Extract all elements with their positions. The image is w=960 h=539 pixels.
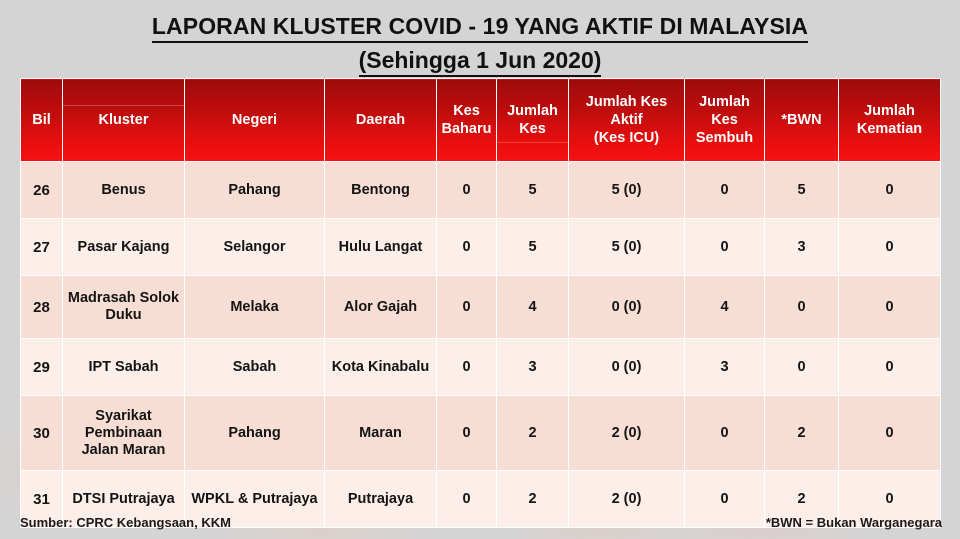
table-row: 29 IPT Sabah Sabah Kota Kinabalu 0 3 0 (… <box>21 339 941 396</box>
cell-bil: 27 <box>21 219 63 276</box>
col-header-kematian-line1: Jumlah <box>839 102 940 120</box>
cell-bil: 26 <box>21 162 63 219</box>
col-header-bil: Bil <box>21 79 63 162</box>
col-header-bil-label: Bil <box>21 111 62 129</box>
cell-kes-sembuh: 0 <box>685 162 765 219</box>
col-header-kes-sembuh-line3: Sembuh <box>685 129 764 147</box>
cell-kematian: 0 <box>839 219 941 276</box>
cell-bwn: 2 <box>765 396 839 471</box>
cell-jumlah-kes: 2 <box>497 396 569 471</box>
cell-kes-sembuh: 0 <box>685 219 765 276</box>
cell-kes-baharu: 0 <box>437 396 497 471</box>
cell-kes-sembuh: 0 <box>685 471 765 528</box>
title-line-1: LAPORAN KLUSTER COVID - 19 YANG AKTIF DI… <box>152 12 808 43</box>
cell-jumlah-kes: 5 <box>497 162 569 219</box>
cell-negeri: Pahang <box>185 162 325 219</box>
col-header-jumlah-kes-line2: Kes <box>497 120 568 138</box>
cell-kluster: IPT Sabah <box>63 339 185 396</box>
col-header-daerah-label: Daerah <box>325 111 436 129</box>
table-header: Bil Kluster Negeri Daerah Kes Baharu <box>21 79 941 162</box>
col-header-kes-baharu: Kes Baharu <box>437 79 497 162</box>
cell-jumlah-kes: 5 <box>497 219 569 276</box>
col-header-kes-aktif-line2: Aktif <box>569 111 684 129</box>
cell-kes-aktif: 0 (0) <box>569 276 685 339</box>
col-header-bwn: *BWN <box>765 79 839 162</box>
cell-kes-baharu: 0 <box>437 276 497 339</box>
cell-kluster: Madrasah Solok Duku <box>63 276 185 339</box>
col-header-kes-sembuh: Jumlah Kes Sembuh <box>685 79 765 162</box>
cell-kes-baharu: 0 <box>437 471 497 528</box>
table-header-row: Bil Kluster Negeri Daerah Kes Baharu <box>21 79 941 162</box>
cell-daerah: Bentong <box>325 162 437 219</box>
col-header-negeri: Negeri <box>185 79 325 162</box>
cell-bil: 29 <box>21 339 63 396</box>
table-row: 28 Madrasah Solok Duku Melaka Alor Gajah… <box>21 276 941 339</box>
footer-legend: *BWN = Bukan Warganegara <box>766 515 942 530</box>
cluster-table: Bil Kluster Negeri Daerah Kes Baharu <box>20 78 941 528</box>
cell-negeri: Pahang <box>185 396 325 471</box>
cell-daerah: Putrajaya <box>325 471 437 528</box>
col-header-bwn-label: *BWN <box>765 111 838 129</box>
cell-jumlah-kes: 2 <box>497 471 569 528</box>
cell-kematian: 0 <box>839 162 941 219</box>
cell-daerah: Alor Gajah <box>325 276 437 339</box>
col-header-kematian-line2: Kematian <box>839 120 940 138</box>
cell-kes-aktif: 2 (0) <box>569 471 685 528</box>
cell-kluster: Syarikat Pembinaan Jalan Maran <box>63 396 185 471</box>
slide-canvas: LAPORAN KLUSTER COVID - 19 YANG AKTIF DI… <box>0 0 960 539</box>
cluster-table-wrapper: Bil Kluster Negeri Daerah Kes Baharu <box>20 78 940 528</box>
col-header-kluster: Kluster <box>63 79 185 162</box>
cell-bil: 30 <box>21 396 63 471</box>
cell-kes-baharu: 0 <box>437 162 497 219</box>
col-header-jumlah-kes-line1: Jumlah <box>497 102 568 120</box>
cell-kes-aktif: 2 (0) <box>569 396 685 471</box>
cell-daerah: Kota Kinabalu <box>325 339 437 396</box>
cell-negeri: Selangor <box>185 219 325 276</box>
cell-daerah: Hulu Langat <box>325 219 437 276</box>
cell-kes-sembuh: 0 <box>685 396 765 471</box>
col-header-kes-aktif: Jumlah Kes Aktif (Kes ICU) <box>569 79 685 162</box>
cell-kes-sembuh: 4 <box>685 276 765 339</box>
cell-kes-baharu: 0 <box>437 219 497 276</box>
col-header-kematian: Jumlah Kematian <box>839 79 941 162</box>
title-line-2: (Sehingga 1 Jun 2020) <box>359 46 602 77</box>
col-header-kluster-label: Kluster <box>63 111 184 129</box>
cell-kes-aktif: 5 (0) <box>569 162 685 219</box>
col-header-kes-baharu-line1: Kes <box>437 102 496 120</box>
cell-kluster: Benus <box>63 162 185 219</box>
col-header-kes-baharu-line2: Baharu <box>437 120 496 138</box>
cell-bwn: 5 <box>765 162 839 219</box>
cell-bwn: 0 <box>765 339 839 396</box>
col-header-kes-aktif-line1: Jumlah Kes <box>569 93 684 111</box>
col-header-kes-sembuh-line1: Jumlah <box>685 93 764 111</box>
cell-kluster: Pasar Kajang <box>63 219 185 276</box>
cell-bwn: 3 <box>765 219 839 276</box>
cell-jumlah-kes: 3 <box>497 339 569 396</box>
cell-kes-baharu: 0 <box>437 339 497 396</box>
cell-kematian: 0 <box>839 339 941 396</box>
cell-jumlah-kes: 4 <box>497 276 569 339</box>
col-header-negeri-label: Negeri <box>185 111 324 129</box>
cell-kematian: 0 <box>839 396 941 471</box>
cell-kes-sembuh: 3 <box>685 339 765 396</box>
cell-bwn: 0 <box>765 276 839 339</box>
col-header-jumlah-kes: Jumlah Kes <box>497 79 569 162</box>
col-header-kes-sembuh-line2: Kes <box>685 111 764 129</box>
table-body: 26 Benus Pahang Bentong 0 5 5 (0) 0 5 0 … <box>21 162 941 528</box>
col-header-daerah: Daerah <box>325 79 437 162</box>
table-row: 27 Pasar Kajang Selangor Hulu Langat 0 5… <box>21 219 941 276</box>
footer-source: Sumber: CPRC Kebangsaan, KKM <box>20 515 231 530</box>
cell-kematian: 0 <box>839 276 941 339</box>
slide-title: LAPORAN KLUSTER COVID - 19 YANG AKTIF DI… <box>0 12 960 77</box>
cell-kes-aktif: 5 (0) <box>569 219 685 276</box>
table-row: 26 Benus Pahang Bentong 0 5 5 (0) 0 5 0 <box>21 162 941 219</box>
col-header-kes-aktif-line3: (Kes ICU) <box>569 129 684 147</box>
table-row: 30 Syarikat Pembinaan Jalan Maran Pahang… <box>21 396 941 471</box>
cell-negeri: Sabah <box>185 339 325 396</box>
cell-daerah: Maran <box>325 396 437 471</box>
cell-negeri: Melaka <box>185 276 325 339</box>
cell-kes-aktif: 0 (0) <box>569 339 685 396</box>
cell-bil: 28 <box>21 276 63 339</box>
